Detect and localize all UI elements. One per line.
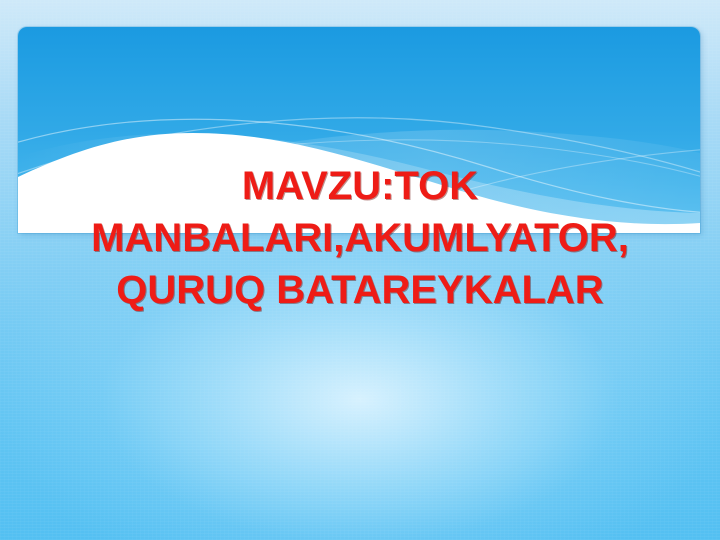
presentation-slide: MAVZU:TOK MANBALARI,AKUMLYATOR, QURUQ BA… xyxy=(0,0,720,540)
title-line-2: MANBALARI,AKUMLYATOR, xyxy=(0,212,720,264)
title-line-1: MAVZU:TOK xyxy=(0,160,720,212)
title-line-3: QURUQ BATAREYKALAR xyxy=(0,264,720,316)
slide-title: MAVZU:TOK MANBALARI,AKUMLYATOR, QURUQ BA… xyxy=(0,160,720,316)
